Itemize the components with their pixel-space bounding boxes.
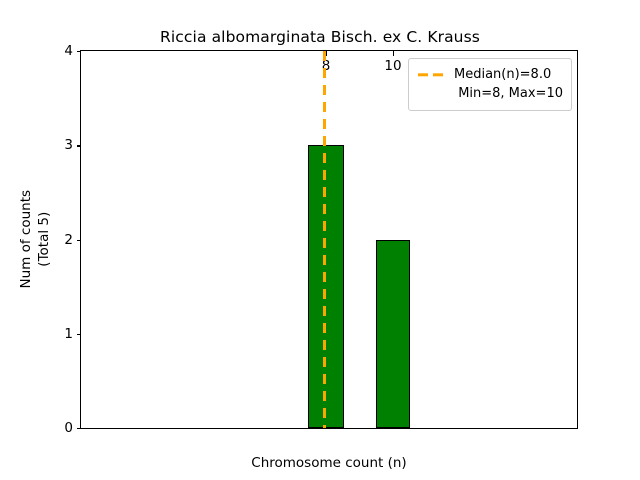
ytick-label: 3 (64, 137, 73, 153)
y-axis-label-line1: Num of counts (18, 190, 34, 289)
median-line (323, 51, 326, 428)
legend-label-median: Median(n)=8.0 (448, 67, 551, 82)
bar-n8[interactable] (308, 145, 344, 428)
dashed-line-icon (417, 65, 448, 84)
ytick-mark (77, 428, 82, 429)
legend: Median(n)=8.0 Min=8, Max=10 (408, 58, 572, 111)
legend-entry-range: Min=8, Max=10 (417, 84, 563, 103)
y-axis-label: Num of counts (Total 5) (18, 50, 52, 429)
chart-figure: Riccia albomarginata Bisch. ex C. Krauss… (0, 0, 640, 480)
ytick-label: 0 (64, 420, 73, 436)
x-axis-label: Chromosome count (n) (80, 455, 578, 471)
ytick-label: 2 (64, 232, 73, 248)
bar-n10[interactable] (376, 240, 411, 429)
y-axis-label-line2: (Total 5) (35, 190, 53, 289)
legend-entry-median: Median(n)=8.0 (417, 65, 563, 84)
legend-label-range: Min=8, Max=10 (452, 86, 563, 101)
ytick-label: 1 (64, 326, 73, 342)
page-title: Riccia albomarginata Bisch. ex C. Krauss (0, 28, 640, 46)
ytick-label: 4 (64, 43, 73, 59)
